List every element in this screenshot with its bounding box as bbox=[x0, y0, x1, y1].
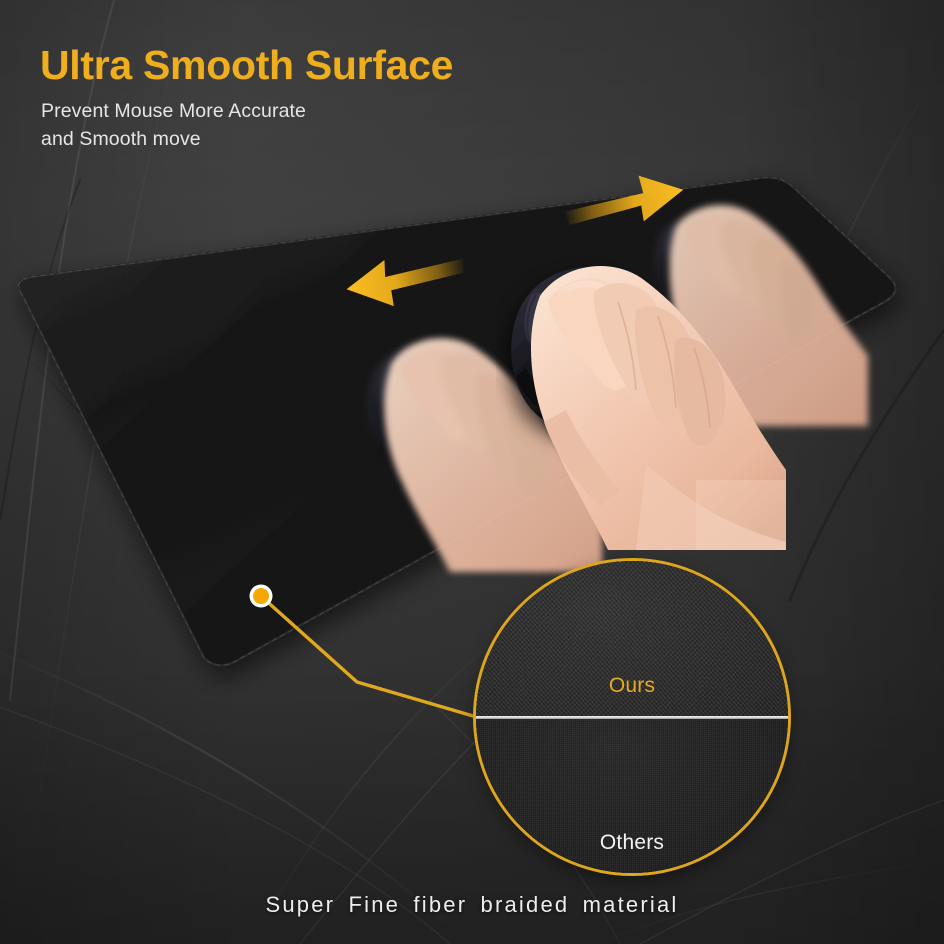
magnifier-label-ours: Ours bbox=[476, 674, 788, 698]
callout-dot-core bbox=[253, 588, 269, 604]
magnifier-label-others: Others bbox=[476, 831, 788, 855]
page-title: Ultra Smooth Surface bbox=[40, 44, 453, 87]
magnifier-divider bbox=[476, 716, 788, 719]
magnifier-circle: Ours Others bbox=[476, 561, 788, 873]
product-feature-image: Ultra Smooth Surface Prevent Mouse More … bbox=[0, 0, 944, 944]
page-subtitle-line-2: and Smooth move bbox=[41, 126, 306, 154]
page-subtitle: Prevent Mouse More Accurate and Smooth m… bbox=[41, 98, 306, 153]
page-subtitle-line-1: Prevent Mouse More Accurate bbox=[41, 98, 306, 126]
feature-caption: Super Fine fiber braided material bbox=[0, 892, 944, 918]
